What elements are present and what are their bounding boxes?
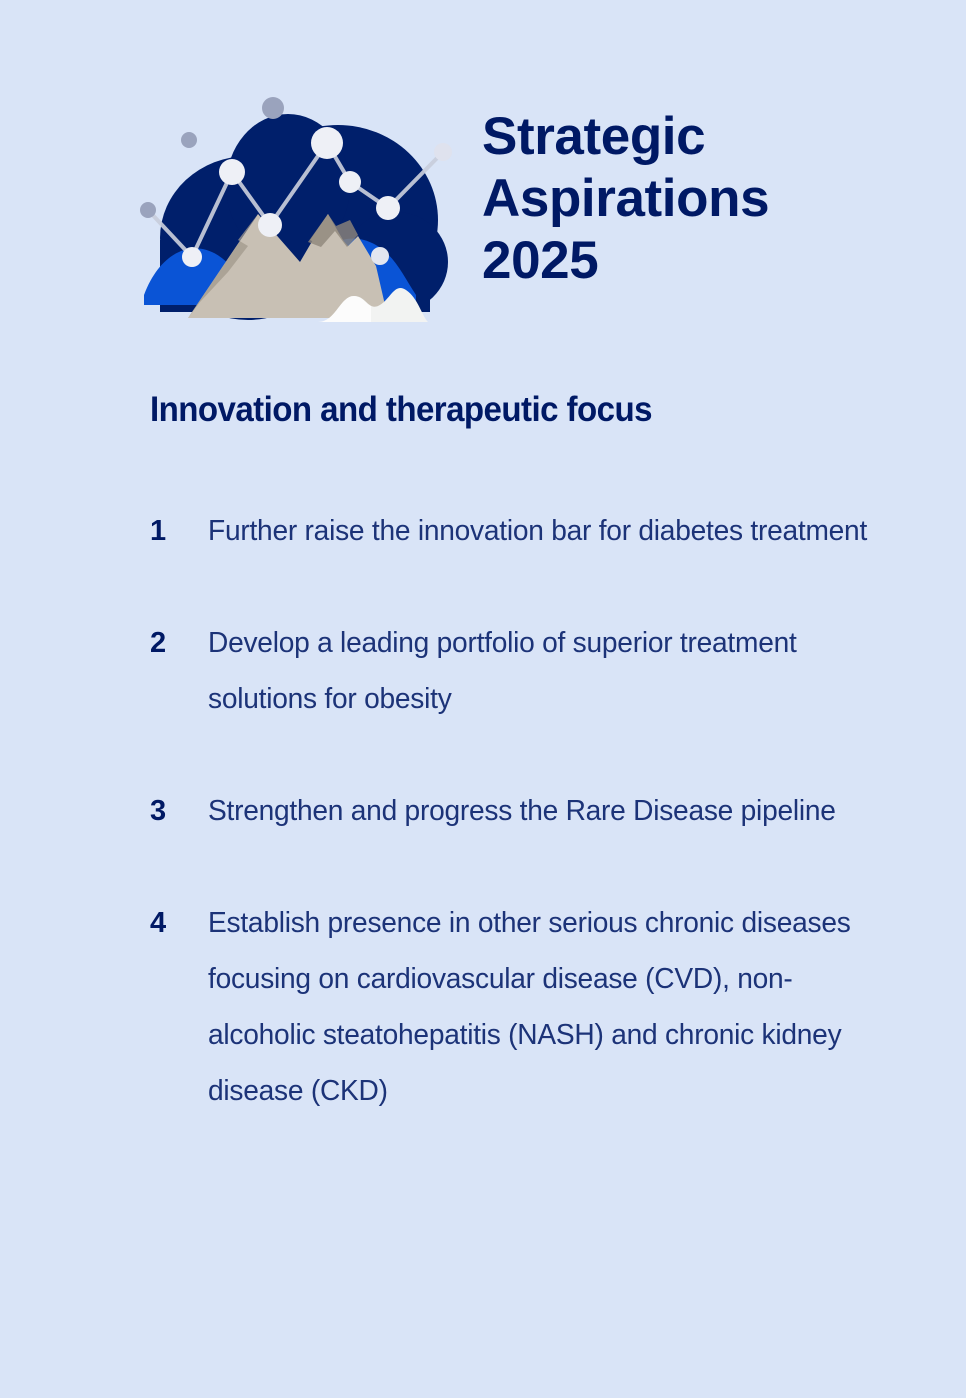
- list-item-number: 1: [150, 503, 208, 559]
- mountains-clouds-linechart-icon: [140, 90, 450, 330]
- list-item: 3 Strengthen and progress the Rare Disea…: [150, 783, 910, 839]
- list-item-text: Further raise the innovation bar for dia…: [208, 503, 889, 559]
- poster-header: Strategic Aspirations 2025: [0, 0, 966, 360]
- page-title-line-1: Strategic: [482, 106, 902, 168]
- section-subheading: Innovation and therapeutic focus: [150, 388, 652, 432]
- page-title: Strategic Aspirations 2025: [482, 106, 902, 292]
- list-item: 1 Further raise the innovation bar for d…: [150, 503, 910, 559]
- page-title-line-2: Aspirations: [482, 168, 902, 230]
- list-item: 4 Establish presence in other serious ch…: [150, 895, 910, 1119]
- list-item: 2 Develop a leading portfolio of superio…: [150, 615, 910, 727]
- list-item-number: 4: [150, 895, 208, 951]
- list-item-text: Establish presence in other serious chro…: [208, 895, 889, 1119]
- list-item-number: 2: [150, 615, 208, 671]
- list-item-text: Develop a leading portfolio of superior …: [208, 615, 889, 727]
- strategic-aspirations-poster: Strategic Aspirations 2025 Innovation an…: [0, 0, 966, 1398]
- page-title-line-3: 2025: [482, 230, 902, 292]
- list-item-number: 3: [150, 783, 208, 839]
- list-item-text: Strengthen and progress the Rare Disease…: [208, 783, 889, 839]
- aspiration-list: 1 Further raise the innovation bar for d…: [150, 503, 910, 1119]
